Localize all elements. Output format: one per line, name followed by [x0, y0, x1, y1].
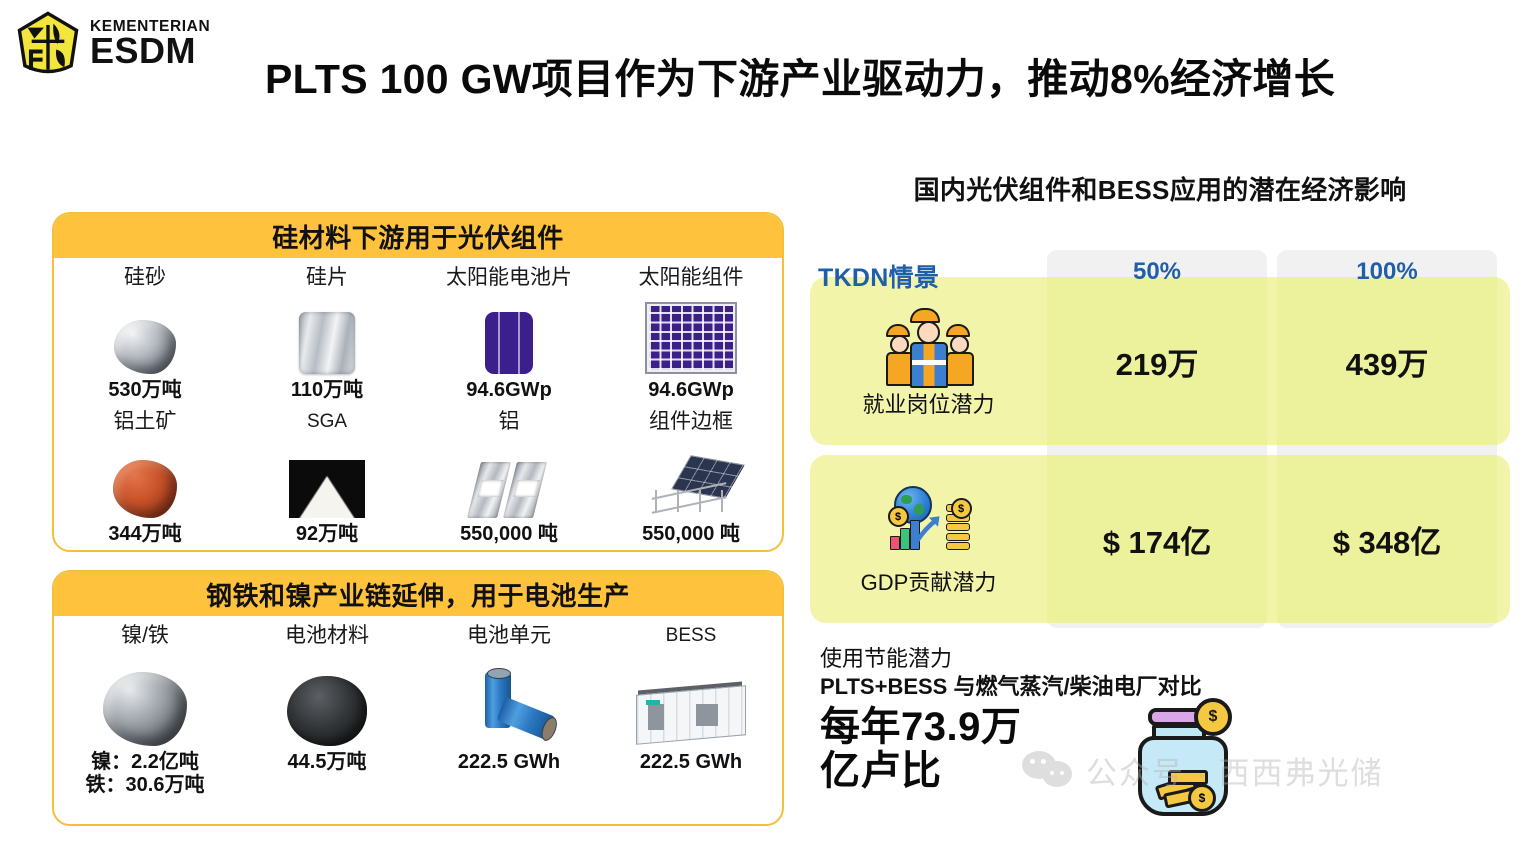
chain-item-label: 太阳能电池片 — [446, 264, 572, 292]
chain-item-value: 94.6GWp — [648, 379, 734, 402]
workers-icon — [884, 303, 974, 383]
chain-item: 电池单元 222.5 GWh — [418, 616, 600, 797]
chain-item-value: 94.6GWp — [466, 379, 552, 402]
chain-item-label: 铝 — [499, 408, 520, 436]
esdm-emblem-icon — [14, 10, 82, 78]
chain-item-label: 电池单元 — [467, 622, 551, 650]
chain-item-value: 222.5 GWh — [458, 751, 560, 774]
chain-item: 镍/铁 镍：2.2亿吨 铁：30.6万吨 — [54, 616, 236, 797]
value-chain-panel: 硅材料下游用于光伏组件 硅砂 530万吨 硅片 110万吨 太阳能电池片 94.… — [52, 212, 788, 826]
note-line-1: 使用节能潜力 — [820, 645, 1340, 673]
chain-item-value: 530万吨 — [108, 379, 181, 402]
cell-jobs-100: 439万 — [1277, 277, 1497, 445]
chain-item-value: 44.5万吨 — [288, 751, 367, 774]
chain-item: BESS 222.5 GWh — [600, 616, 782, 797]
chain-item-label: 太阳能组件 — [639, 264, 744, 292]
card-silicon-title: 硅材料下游用于光伏组件 — [54, 214, 782, 258]
chain-item-label: 铝土矿 — [114, 408, 177, 436]
silicon-rock-icon — [114, 296, 176, 374]
wechat-watermark: 公众号 · 西西弗光储 — [1022, 748, 1384, 793]
chain-item: 铝土矿 344万吨 — [54, 402, 236, 546]
chain-item-label: BESS — [666, 622, 717, 650]
alumina-powder-icon — [289, 440, 365, 518]
table-row: 就业岗位潜力 219万 439万 — [810, 277, 1510, 445]
chain-item: SGA 92万吨 — [236, 402, 418, 546]
row-label-cell-gdp: $ $ GDP贡献潜力 — [810, 455, 1047, 623]
table-row: $ $ GDP贡献潜力 $ 174亿 $ 348亿 — [810, 455, 1510, 623]
gdp-growth-icon: $ $ — [884, 481, 974, 561]
chain-item-label: 组件边框 — [649, 408, 733, 436]
bess-container-icon — [636, 654, 746, 746]
row-label-gdp: GDP贡献潜力 — [861, 565, 997, 597]
chain-item: 电池材料 44.5万吨 — [236, 616, 418, 797]
card-steel-title: 钢铁和镍产业链延伸，用于电池生产 — [54, 572, 782, 616]
chain-item: 硅砂 530万吨 — [54, 258, 236, 402]
chain-item: 太阳能组件 94.6GWp — [600, 258, 782, 402]
chain-item-value: 222.5 GWh — [640, 751, 742, 774]
chain-item-label: 硅片 — [306, 264, 348, 292]
chain-item-value: 110万吨 — [291, 379, 363, 402]
nickel-ore-icon — [103, 654, 187, 746]
note-line-2: PLTS+BESS 与燃气蒸汽/柴油电厂对比 — [820, 673, 1340, 702]
wechat-icon — [1022, 749, 1080, 793]
bauxite-rock-icon — [113, 440, 177, 518]
chain-item: 太阳能电池片 94.6GWp — [418, 258, 600, 402]
right-panel-title: 国内光伏组件和BESS应用的潜在经济影响 — [810, 170, 1510, 207]
impact-table: TKDN情景 50% 100% — [810, 250, 1510, 630]
silicon-row-2: 铝土矿 344万吨 SGA 92万吨 铝 550,000 吨 组件边框 — [54, 402, 782, 546]
cell-gdp-50: $ 174亿 — [1047, 455, 1267, 623]
chain-item: 组件边框 550,000 吨 — [600, 402, 782, 546]
row-label-cell-jobs: 就业岗位潜力 — [810, 277, 1047, 445]
silicon-wafer-icon — [299, 296, 355, 374]
esdm-logo: KEMENTERIAN ESDM — [14, 8, 189, 80]
chain-item-label: 镍/铁 — [121, 622, 169, 650]
silicon-row-1: 硅砂 530万吨 硅片 110万吨 太阳能电池片 94.6GWp 太阳能组件 9… — [54, 258, 782, 402]
chain-item-value: 550,000 吨 — [642, 523, 740, 546]
chain-item-label: 硅砂 — [124, 264, 166, 292]
chain-item-value: 镍：2.2亿吨 铁：30.6万吨 — [86, 751, 205, 797]
wechat-watermark-text: 公众号 · 西西弗光储 — [1086, 748, 1384, 793]
logo-esdm-text: ESDM — [90, 33, 210, 69]
solar-cell-icon — [485, 296, 533, 374]
chain-item: 硅片 110万吨 — [236, 258, 418, 402]
coin-icon: $ — [1194, 698, 1232, 736]
esdm-logo-text: KEMENTERIAN ESDM — [90, 19, 210, 70]
battery-material-icon — [287, 654, 367, 746]
aluminium-extrusion-icon — [472, 440, 546, 518]
chain-item-label: 电池材料 — [285, 622, 369, 650]
solar-module-icon — [645, 296, 737, 374]
page-title: PLTS 100 GW项目作为下游产业驱动力，推动8%经济增长 — [200, 42, 1400, 108]
row-label-jobs: 就业岗位潜力 — [862, 387, 994, 419]
chain-item-value: 344万吨 — [108, 523, 181, 546]
card-steel-nickel-chain: 钢铁和镍产业链延伸，用于电池生产 镍/铁 镍：2.2亿吨 铁：30.6万吨 电池… — [52, 570, 784, 826]
chain-item-label: SGA — [307, 408, 347, 436]
steel-row-1: 镍/铁 镍：2.2亿吨 铁：30.6万吨 电池材料 44.5万吨 电池单元 22… — [54, 616, 782, 797]
chain-item: 铝 550,000 吨 — [418, 402, 600, 546]
cell-jobs-50: 219万 — [1047, 277, 1267, 445]
chain-item-value: 550,000 吨 — [460, 523, 558, 546]
module-frame-icon — [645, 440, 737, 518]
card-silicon-chain: 硅材料下游用于光伏组件 硅砂 530万吨 硅片 110万吨 太阳能电池片 94.… — [52, 212, 784, 552]
battery-cell-icon — [465, 654, 553, 746]
chain-item-value: 92万吨 — [296, 523, 358, 546]
cell-gdp-100: $ 348亿 — [1277, 455, 1497, 623]
page-header: KEMENTERIAN ESDM PLTS 100 GW项目作为下游产业驱动力，… — [0, 0, 1523, 130]
